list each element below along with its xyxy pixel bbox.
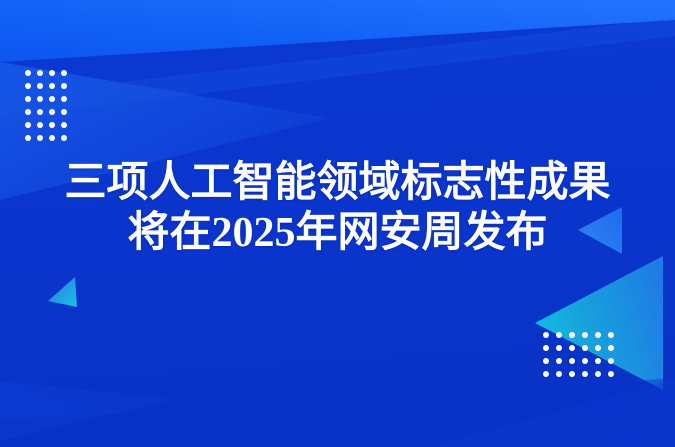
dot	[61, 83, 67, 89]
dot	[61, 122, 67, 128]
dot	[569, 371, 575, 377]
dot	[608, 345, 614, 351]
dot	[543, 332, 549, 338]
dot	[49, 109, 55, 115]
dot	[49, 83, 55, 89]
dot	[582, 371, 588, 377]
dot	[556, 358, 562, 364]
dot	[37, 135, 43, 141]
banner-headline: 三项人工智能领域标志性成果 将在2025年网安周发布	[0, 158, 675, 258]
dot	[608, 358, 614, 364]
dot	[543, 371, 549, 377]
dot	[543, 345, 549, 351]
dot	[25, 109, 31, 115]
dot	[595, 332, 601, 338]
dot	[37, 96, 43, 102]
dot	[543, 358, 549, 364]
dot	[37, 70, 43, 76]
dot	[61, 135, 67, 141]
dot	[37, 109, 43, 115]
dot	[61, 96, 67, 102]
dot-grid-bottom-right	[543, 332, 614, 377]
dot	[25, 135, 31, 141]
dot	[582, 345, 588, 351]
dot	[49, 135, 55, 141]
headline-line-2: 将在2025年网安周发布	[0, 208, 675, 258]
dot	[595, 371, 601, 377]
dot	[25, 96, 31, 102]
dot	[582, 358, 588, 364]
small-left-triangle-shape	[48, 277, 77, 307]
dot	[569, 358, 575, 364]
dot	[556, 371, 562, 377]
dot	[569, 345, 575, 351]
dot	[25, 70, 31, 76]
dot	[25, 122, 31, 128]
dot	[608, 371, 614, 377]
dot	[49, 70, 55, 76]
headline-line-1: 三项人工智能领域标志性成果	[0, 158, 675, 208]
dot	[37, 122, 43, 128]
dot	[61, 109, 67, 115]
dot	[582, 332, 588, 338]
dot	[556, 345, 562, 351]
dot	[608, 332, 614, 338]
dot	[49, 122, 55, 128]
dot	[556, 332, 562, 338]
promo-banner: 三项人工智能领域标志性成果 将在2025年网安周发布	[0, 0, 675, 447]
dot	[595, 358, 601, 364]
dot-grid-top-left	[25, 70, 67, 141]
dot	[61, 70, 67, 76]
dot	[595, 345, 601, 351]
dot	[25, 83, 31, 89]
dot	[49, 96, 55, 102]
dot	[569, 332, 575, 338]
dot	[37, 83, 43, 89]
